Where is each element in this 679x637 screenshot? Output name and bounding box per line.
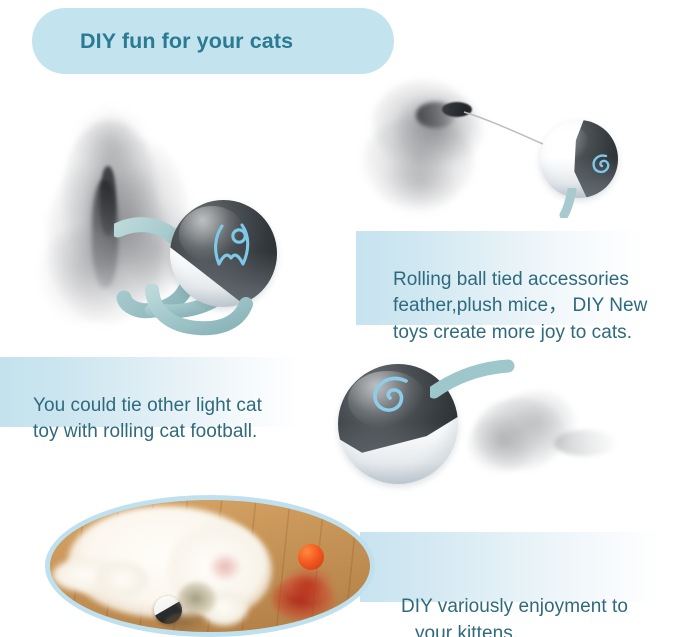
plush-mouse-icon [468,388,618,484]
caption-rolling-ball-accessories: Rolling ball tied accessories feather,pl… [356,231,679,325]
caption-text: You could tie other light cat toy with r… [0,384,318,455]
toy-plush-attachment [178,582,216,616]
cat-hind-paw [96,562,148,598]
orange-ball-toy [298,544,324,570]
title-banner: DIY fun for your cats [32,8,394,74]
caption-text: Rolling ball tied accessories feather,pl… [356,258,679,356]
product-infographic: DIY fun for your cats [0,0,679,637]
product-image-top-right [358,72,620,217]
caption-text-line-2: your kittens. [401,621,679,637]
product-image-top-left [40,108,300,333]
rolling-ball-body [540,120,618,198]
page-title: DIY fun for your cats [80,29,293,54]
cat-ear [210,554,240,580]
red-feather-wisps [284,566,332,602]
caption-tie-other-toys: You could tie other light cat toy with r… [0,357,318,427]
cat-playing-photo [45,495,375,637]
caption-text-line-1: DIY variously enjoyment to [401,596,628,617]
teal-silicone-foot-icon [144,284,254,336]
ball-dark-cap [540,120,618,198]
teal-silicone-foot-icon [554,188,590,218]
caption-diy-enjoyment: DIY variously enjoyment to your kittens. [360,532,679,602]
